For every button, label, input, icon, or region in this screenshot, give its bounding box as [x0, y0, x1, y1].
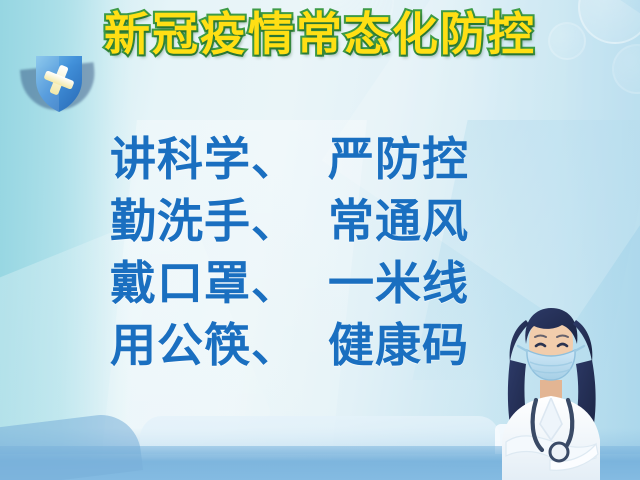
slogan-line-3-left: 戴口罩、: [110, 252, 328, 314]
background-bottom-left-curve: [0, 410, 143, 480]
slogan-line-4-right: 健康码: [328, 314, 469, 376]
slogan-line-2-right: 常通风: [328, 190, 469, 252]
slogan-line-3-right: 一米线: [328, 252, 469, 314]
nurse-illustration-container: [480, 308, 630, 480]
slogan-list: 讲科学、 严防控 勤洗手、 常通风 戴口罩、 一米线 用公筷、 健康码: [110, 128, 530, 376]
background-bottom-plate: [140, 416, 500, 456]
slogan-line-1: 讲科学、 严防控: [110, 128, 530, 190]
poster-headline: 新冠疫情常态化防控: [104, 10, 536, 60]
female-doctor-with-mask-illustration: [480, 308, 630, 480]
slogan-line-1-right: 严防控: [328, 128, 469, 190]
slogan-line-1-left: 讲科学、: [110, 128, 328, 190]
covid-prevention-poster: 新冠疫情常态化防控 讲科学、 严防控 勤洗手、 常通风 戴口罩、 一米线 用公筷…: [0, 0, 640, 480]
shield-badge: [22, 50, 96, 124]
slogan-line-4-left: 用公筷、: [110, 314, 328, 376]
slogan-line-2: 勤洗手、 常通风: [110, 190, 530, 252]
shield-with-cross-icon: [22, 50, 96, 124]
slogan-line-2-left: 勤洗手、: [110, 190, 328, 252]
slogan-line-4: 用公筷、 健康码: [110, 314, 530, 376]
headline-container: 新冠疫情常态化防控: [0, 10, 640, 60]
slogan-line-3: 戴口罩、 一米线: [110, 252, 530, 314]
